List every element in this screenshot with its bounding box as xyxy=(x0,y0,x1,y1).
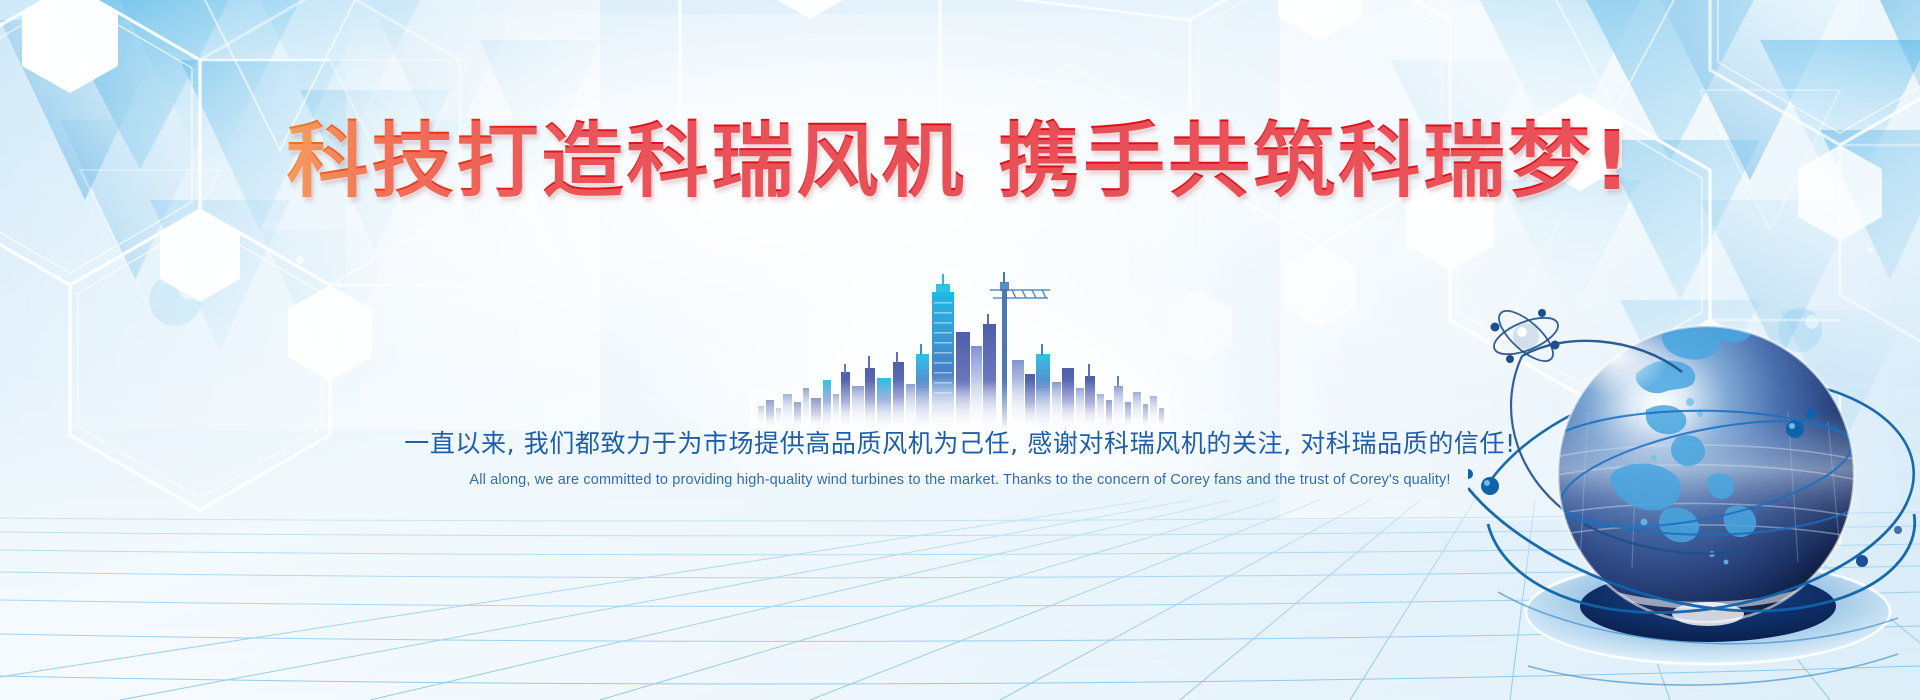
headline-container: 科技打造科瑞风机 携手共筑科瑞梦! xyxy=(0,118,1920,207)
page-title: 科技打造科瑞风机 携手共筑科瑞梦! xyxy=(287,118,1634,207)
subtitle-english: All along, we are committed to providing… xyxy=(0,472,1920,488)
subtitle-chinese: 一直以来, 我们都致力于为市场提供高品质风机为己任, 感谢对科瑞风机的关注, 对… xyxy=(0,424,1920,460)
subtitle-container: 一直以来, 我们都致力于为市场提供高品质风机为己任, 感谢对科瑞风机的关注, 对… xyxy=(0,424,1920,488)
city-skyline-icon xyxy=(750,268,1170,428)
banner: 科技打造科瑞风机 携手共筑科瑞梦! xyxy=(0,0,1920,700)
